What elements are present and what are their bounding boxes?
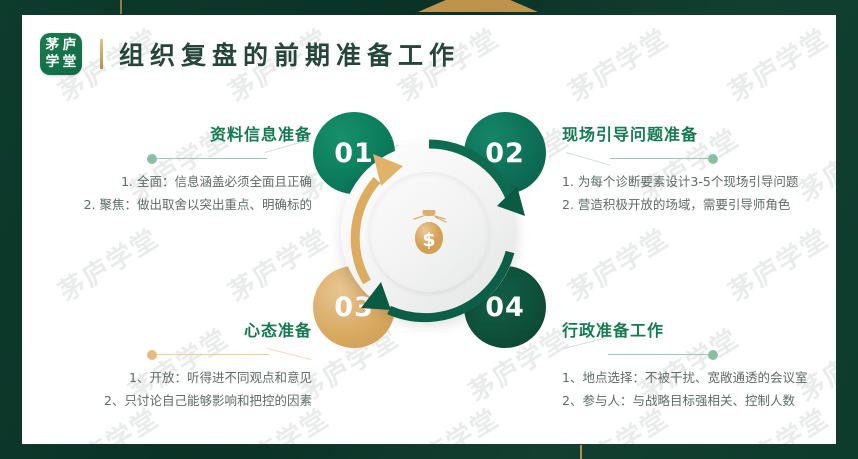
- info-block-03: 心态准备 1、开放：听得进不同观点和意见 2、只讨论自己能够影响和把控的因素: [22, 317, 312, 415]
- arrowhead-green-left: [361, 282, 391, 310]
- watermark-text: 茅庐学堂: [721, 18, 836, 109]
- info-block-01: 资料信息准备 1. 全面：信息涵盖必须全面且正确 2. 聚焦：做出取舍以突出重点…: [22, 121, 312, 219]
- info-block-03-item-1: 1、开放：听得进不同观点和意见: [22, 368, 312, 387]
- watermark-text: 茅庐学堂: [721, 218, 836, 309]
- info-block-02-item-1: 1. 为每个诊断要素设计3-5个现场引导问题: [562, 172, 836, 191]
- info-block-01-title: 资料信息准备: [22, 121, 312, 145]
- info-block-02-item-2: 2. 营造积极开放的场域，需要引导师角色: [562, 195, 836, 214]
- logo-char-4: 堂: [63, 56, 77, 70]
- gold-tick-bottom: [580, 445, 582, 459]
- connector-dot: [147, 350, 157, 360]
- info-block-01-item-2: 2. 聚焦：做出取舍以突出重点、明确标的: [22, 195, 312, 214]
- info-block-04-item-2: 2、参与人：与战略目标强相关、控制人数: [562, 391, 836, 410]
- connector-dot: [708, 154, 718, 164]
- info-block-03-item-2: 2、只讨论自己能够影响和把控的因素: [22, 391, 312, 410]
- slide-page: 茅庐学堂茅庐学堂茅庐学堂茅庐学堂茅庐学堂茅庐学堂茅庐学堂茅庐学堂茅庐学堂茅庐学堂…: [22, 15, 836, 444]
- watermark-text: 茅庐学堂: [391, 398, 506, 444]
- info-block-04: 行政准备工作 1、地点选择：不被干扰、宽敞通透的会议室 2、参与人：与战略目标强…: [562, 317, 836, 415]
- info-block-01-connector: [22, 152, 312, 166]
- title-accent-bar: [100, 39, 103, 69]
- arc-green-bottom: [389, 252, 510, 318]
- logo-char-1: 茅: [46, 39, 60, 53]
- logo-seal-characters: 茅 庐 学 堂: [44, 37, 78, 71]
- gold-chevron-decoration: [418, 0, 538, 12]
- watermark-text: 茅庐学堂: [51, 218, 166, 309]
- connector-bar: [608, 354, 710, 355]
- brand-logo: 茅 庐 学 堂: [40, 33, 82, 75]
- cycle-ring: $: [329, 132, 529, 332]
- arc-green-top: [429, 144, 510, 198]
- connector-bar: [157, 354, 269, 355]
- connector-dot: [708, 350, 718, 360]
- info-block-02-title: 现场引导问题准备: [562, 121, 836, 145]
- cycle-diagram: 01 02 03 04: [297, 100, 562, 365]
- svg-text:$: $: [422, 229, 435, 251]
- watermark-text: 茅庐学堂: [561, 18, 676, 109]
- info-block-01-item-1: 1. 全面：信息涵盖必须全面且正确: [22, 172, 312, 191]
- slide-header: 茅 庐 学 堂 组织复盘的前期准备工作: [40, 33, 460, 75]
- connector-bar: [157, 158, 267, 159]
- info-block-04-item-1: 1、地点选择：不被干扰、宽敞通透的会议室: [562, 368, 836, 387]
- info-block-04-connector: [562, 348, 836, 362]
- connector-diagonal: [566, 152, 611, 166]
- arc-gold-left: [355, 180, 377, 282]
- money-bag-icon: $: [405, 206, 453, 258]
- watermark-text: 茅庐学堂: [561, 218, 676, 309]
- slide-root: 茅庐学堂茅庐学堂茅庐学堂茅庐学堂茅庐学堂茅庐学堂茅庐学堂茅庐学堂茅庐学堂茅庐学堂…: [0, 0, 858, 459]
- gold-tick-top: [120, 0, 122, 14]
- page-title: 组织复盘的前期准备工作: [119, 36, 460, 72]
- info-block-02: 现场引导问题准备 1. 为每个诊断要素设计3-5个现场引导问题 2. 营造积极开…: [562, 121, 836, 219]
- connector-bar: [610, 158, 710, 159]
- logo-char-3: 学: [46, 56, 60, 70]
- info-block-03-title: 心态准备: [22, 317, 312, 341]
- info-block-02-connector: [562, 152, 836, 166]
- connector-dot: [147, 154, 157, 164]
- logo-char-2: 庐: [63, 39, 77, 53]
- info-block-03-connector: [22, 348, 312, 362]
